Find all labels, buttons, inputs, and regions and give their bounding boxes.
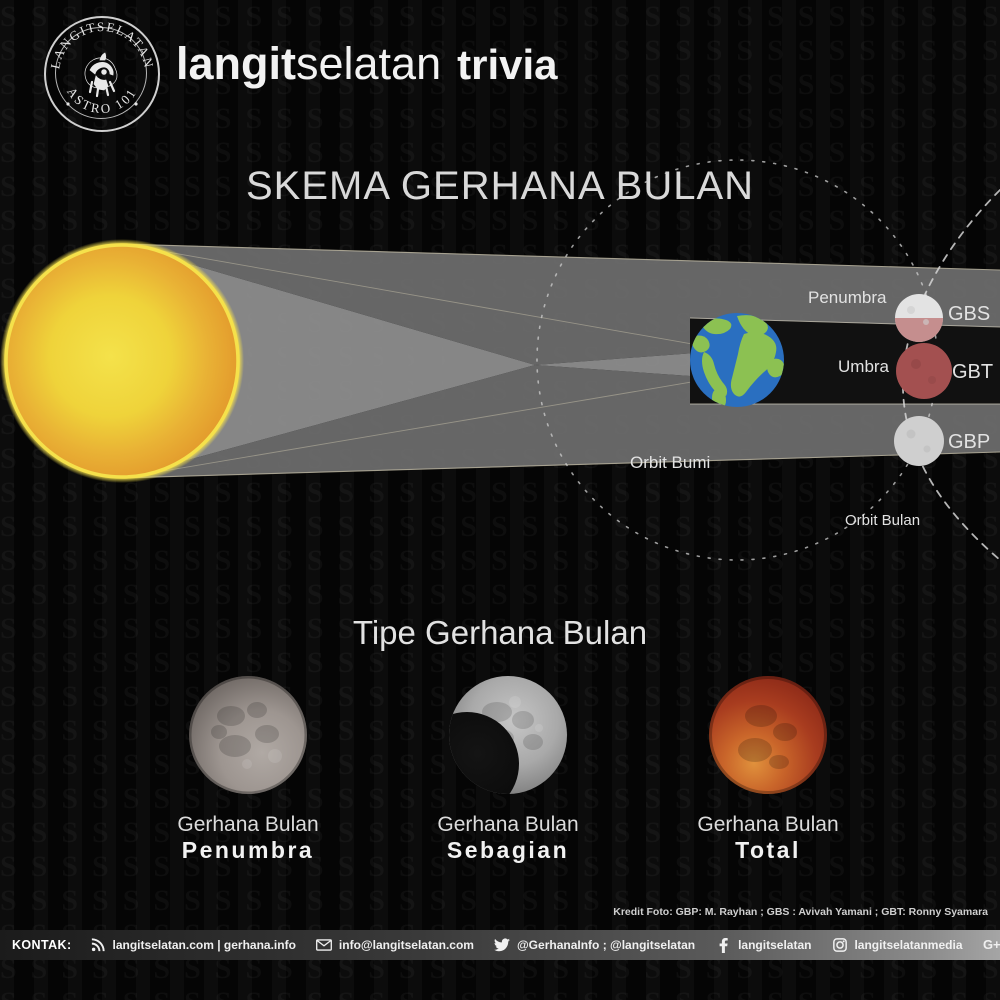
footer-twitter-text: @GerhanaInfo ; @langitselatan	[517, 938, 695, 952]
footer-facebook-text: langitselatan	[738, 938, 811, 952]
footer-instagram-text: langitselatanmedia	[854, 938, 962, 952]
photo-credits: Kredit Foto: GBP: M. Rayhan ; GBS : Aviv…	[613, 906, 988, 918]
type-caption-line1: Gerhana Bulan	[638, 812, 898, 837]
type-caption: Gerhana Bulan Total	[638, 812, 898, 864]
rss-icon	[90, 937, 107, 953]
type-caption-line1: Gerhana Bulan	[378, 812, 638, 837]
label-gbt: GBT	[952, 361, 993, 384]
footer-item-email[interactable]: info@langitselatan.com	[316, 937, 494, 953]
footer-item-twitter[interactable]: @GerhanaInfo ; @langitselatan	[494, 937, 715, 953]
eclipse-diagram: Penumbra Umbra GBS GBT GBP Orbit Bumi Or…	[0, 0, 1000, 600]
penumbral-eclipse-photo	[189, 676, 307, 794]
label-gbp: GBP	[948, 431, 990, 454]
footer-item-googleplus[interactable]: G+ LangitselatanMedia	[983, 937, 1000, 953]
eclipse-type-total: Gerhana Bulan Total	[638, 676, 898, 864]
footer-item-facebook[interactable]: langitselatan	[715, 937, 831, 953]
label-umbra: Umbra	[838, 357, 889, 377]
label-gbs: GBS	[948, 303, 990, 326]
googleplus-icon: G+	[983, 937, 1000, 953]
types-section-title: Tipe Gerhana Bulan	[0, 614, 1000, 652]
type-caption-line1: Gerhana Bulan	[118, 812, 378, 837]
svg-text:G+: G+	[983, 938, 1000, 952]
type-caption: Gerhana Bulan Penumbra	[118, 812, 378, 864]
total-eclipse-photo	[709, 676, 827, 794]
facebook-icon	[715, 937, 732, 953]
infographic-page: SSSSSSSSSSSSSSSSSSSSSSSSSSSSSSSSSSSSSSSS…	[0, 0, 1000, 1000]
footer-website-text: langitselatan.com | gerhana.info	[113, 938, 296, 952]
kontak-label: KONTAK:	[0, 938, 90, 952]
type-caption-line2: Sebagian	[378, 837, 638, 864]
moon-gbt	[896, 343, 952, 399]
eclipse-type-penumbral: Gerhana Bulan Penumbra	[118, 676, 378, 864]
eclipse-type-partial: Gerhana Bulan Sebagian	[378, 676, 638, 864]
footer-item-website[interactable]: langitselatan.com | gerhana.info	[90, 937, 316, 953]
label-orbit-bulan: Orbit Bulan	[845, 512, 920, 529]
type-caption-line2: Total	[638, 837, 898, 864]
footer-contact-bar: KONTAK: langitselatan.com | gerhana.info…	[0, 930, 1000, 960]
sun	[0, 239, 244, 483]
moon-gbs	[895, 294, 943, 342]
instagram-icon	[831, 937, 848, 953]
label-orbit-bumi: Orbit Bumi	[630, 453, 710, 473]
label-penumbra: Penumbra	[808, 288, 886, 308]
moon-gbp	[894, 416, 944, 466]
partial-eclipse-photo	[449, 676, 567, 794]
twitter-icon	[494, 937, 511, 953]
type-caption: Gerhana Bulan Sebagian	[378, 812, 638, 864]
footer-email-text: info@langitselatan.com	[339, 938, 474, 952]
footer-item-instagram[interactable]: langitselatanmedia	[831, 937, 982, 953]
type-caption-line2: Penumbra	[118, 837, 378, 864]
envelope-icon	[316, 937, 333, 953]
